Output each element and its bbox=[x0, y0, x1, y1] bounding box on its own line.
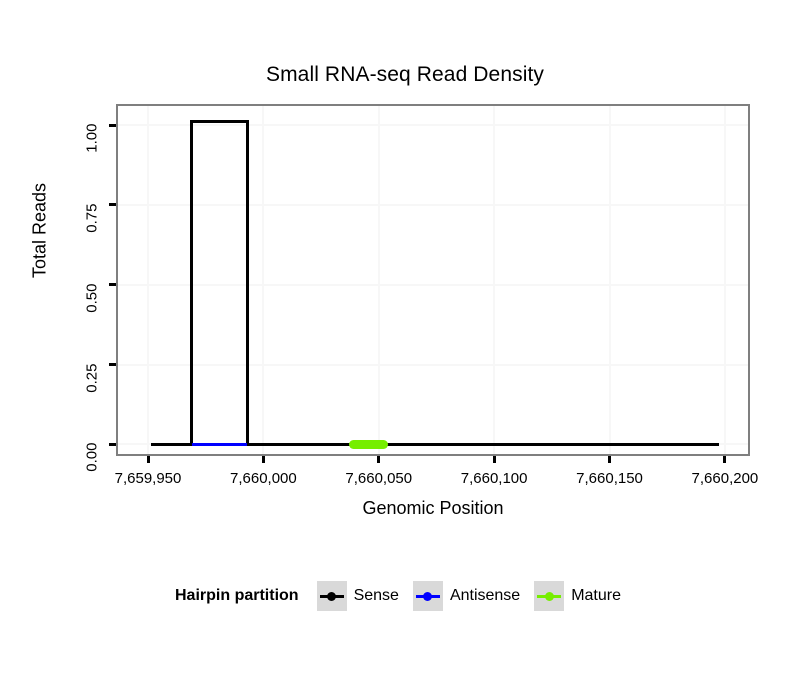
x-axis-title: Genomic Position bbox=[116, 498, 750, 519]
chart-canvas: Small RNA-seq Read Density Total Reads G… bbox=[0, 0, 810, 690]
legend-item-mature[interactable]: Mature bbox=[534, 581, 621, 611]
gridline-vertical bbox=[262, 106, 264, 454]
page-title: Small RNA-seq Read Density bbox=[0, 63, 810, 87]
y-axis-title: Total Reads bbox=[30, 121, 51, 341]
gridline-horizontal bbox=[118, 124, 748, 126]
legend-item-label: Sense bbox=[354, 587, 399, 605]
gridline-horizontal bbox=[118, 364, 748, 366]
series-segment-antisense bbox=[192, 443, 247, 446]
gridline-vertical bbox=[147, 106, 149, 454]
y-axis-tick bbox=[109, 283, 116, 286]
series-segment-sense bbox=[190, 120, 248, 123]
x-axis-tick bbox=[608, 456, 611, 463]
plot-area bbox=[118, 106, 748, 454]
series-segment-mature bbox=[349, 440, 388, 449]
legend-item-label: Antisense bbox=[450, 587, 520, 605]
y-axis-tick bbox=[109, 203, 116, 206]
x-axis-tick-label: 7,660,200 bbox=[645, 470, 805, 487]
legend-key-icon bbox=[534, 581, 564, 611]
legend-dot-icon bbox=[327, 592, 336, 601]
series-segment-sense bbox=[151, 443, 193, 446]
chart-legend: Hairpin partition SenseAntisenseMature bbox=[0, 581, 810, 611]
gridline-horizontal bbox=[118, 204, 748, 206]
legend-items: SenseAntisenseMature bbox=[317, 581, 635, 611]
legend-dot-icon bbox=[423, 592, 432, 601]
gridline-vertical bbox=[493, 106, 495, 454]
series-segment-sense bbox=[246, 122, 249, 444]
x-axis-tick bbox=[493, 456, 496, 463]
legend-key-icon bbox=[317, 581, 347, 611]
y-axis-tick bbox=[109, 443, 116, 446]
x-axis-tick bbox=[723, 456, 726, 463]
x-axis-tick bbox=[262, 456, 265, 463]
legend-title: Hairpin partition bbox=[175, 587, 299, 605]
gridline-vertical bbox=[609, 106, 611, 454]
x-axis-tick bbox=[147, 456, 150, 463]
legend-item-sense[interactable]: Sense bbox=[317, 581, 399, 611]
gridline-vertical bbox=[378, 106, 380, 454]
legend-item-antisense[interactable]: Antisense bbox=[413, 581, 520, 611]
y-axis-tick bbox=[109, 124, 116, 127]
y-axis-tick bbox=[109, 363, 116, 366]
legend-dot-icon bbox=[545, 592, 554, 601]
x-axis-tick bbox=[377, 456, 380, 463]
series-segment-sense bbox=[190, 122, 193, 444]
legend-key-icon bbox=[413, 581, 443, 611]
legend-item-label: Mature bbox=[571, 587, 621, 605]
plot-panel bbox=[116, 104, 750, 456]
y-axis-tick-label: 1.00 bbox=[84, 124, 101, 234]
series-segment-sense bbox=[246, 443, 720, 446]
gridline-vertical bbox=[724, 106, 726, 454]
gridline-horizontal bbox=[118, 284, 748, 286]
